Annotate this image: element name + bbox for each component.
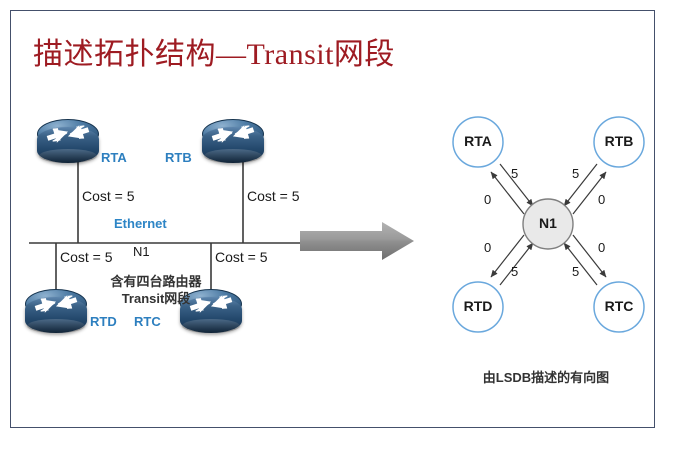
edge-label-rtd-to-n1: 5	[511, 264, 518, 279]
router-arrows-glyph	[37, 121, 99, 147]
graph-node-rta: RTA	[453, 133, 503, 149]
router-label-rtc: RTC	[134, 314, 161, 329]
edge-label-rta-to-n1: 5	[511, 166, 518, 181]
slide-canvas: 描述拓扑结构—Transit网段	[10, 10, 655, 428]
graph-node-n1: N1	[528, 215, 568, 231]
edge-label-n1-to-rta: 0	[484, 192, 491, 207]
cost-label-rtc: Cost = 5	[215, 249, 268, 265]
page-title: 描述拓扑结构—Transit网段	[33, 29, 395, 73]
edge-label-n1-to-rtc: 0	[598, 240, 605, 255]
router-rta-icon	[37, 119, 99, 171]
router-label-rta: RTA	[101, 150, 127, 165]
right-caption: 由LSDB描述的有向图	[421, 369, 671, 386]
left-caption-line1: 含有四台路由器	[31, 273, 281, 290]
left-caption: 含有四台路由器 Transit网段	[31, 273, 281, 307]
edge-label-rtb-to-n1: 5	[572, 166, 579, 181]
left-caption-line2: Transit网段	[31, 290, 281, 307]
cost-label-rta: Cost = 5	[82, 188, 135, 204]
cost-label-rtb: Cost = 5	[247, 188, 300, 204]
block-arrow-right-icon	[296, 219, 421, 267]
lsdb-directed-graph: RTA RTB RTD RTC N1 5 0 5 0 5 0 5 0	[436, 106, 661, 341]
cost-label-rtd: Cost = 5	[60, 249, 113, 265]
edge-label-n1-to-rtd: 0	[484, 240, 491, 255]
router-label-rtb: RTB	[165, 150, 192, 165]
router-arrows-glyph	[202, 121, 264, 147]
router-label-rtd: RTD	[90, 314, 117, 329]
edge-label-rtc-to-n1: 5	[572, 264, 579, 279]
router-rtb-icon	[202, 119, 264, 171]
graph-node-rtb: RTB	[594, 133, 644, 149]
graph-node-rtc: RTC	[594, 298, 644, 314]
edge-label-n1-to-rtb: 0	[598, 192, 605, 207]
ethernet-segment-label: Ethernet	[114, 216, 167, 231]
segment-name-n1: N1	[133, 244, 150, 259]
graph-node-rtd: RTD	[453, 298, 503, 314]
